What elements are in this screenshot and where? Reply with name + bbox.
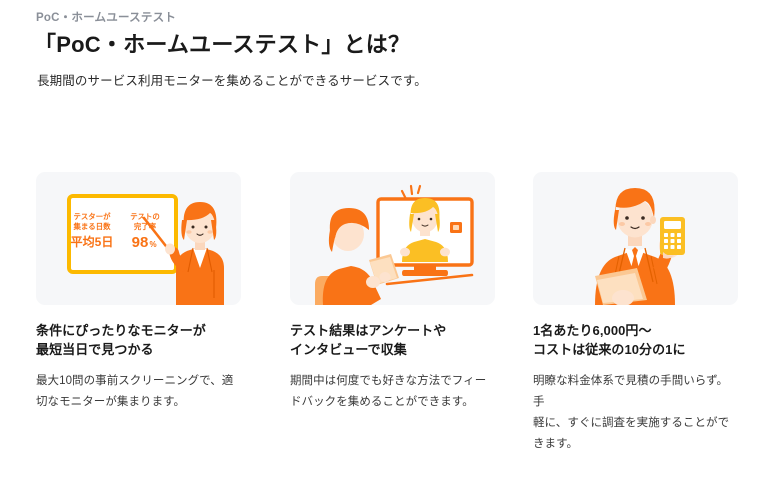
svg-text:テスターが: テスターが (74, 212, 112, 221)
card-heading: 条件にぴったりなモニターが 最短当日で見つかる (36, 322, 241, 360)
feature-card-list: テスターが 集まる日数 平均5日 テストの 完了率 98 % (0, 0, 780, 483)
card-body-text: 期間中は何度でも好きな方法でフィー ドバックを集めることができます。 (290, 371, 495, 414)
svg-text:集まる日数: 集まる日数 (73, 222, 112, 231)
page-root: PoC・ホームユーステスト 「PoC・ホームユーステスト」とは？ 長期間のサービ… (0, 0, 780, 483)
svg-text:98: 98 (132, 234, 149, 251)
card-heading: 1名あたり6,000円〜 コストは従来の10分の1に (533, 322, 738, 360)
svg-text:平均5日: 平均5日 (71, 234, 114, 249)
feature-card: 1名あたり6,000円〜 コストは従来の10分の1に 明瞭な料金体系で見積の手間… (533, 172, 738, 456)
svg-text:%: % (149, 240, 156, 249)
businessman-calculator-illustration (533, 172, 738, 305)
card-heading: テスト結果はアンケートや インタビューで収集 (290, 322, 495, 360)
card-body-text: 最大10問の事前スクリーニングで、適 切なモニターが集まります。 (36, 371, 241, 414)
video-interview-illustration (290, 172, 495, 305)
feature-card: テスト結果はアンケートや インタビューで収集 期間中は何度でも好きな方法でフィー… (290, 172, 495, 413)
card-body-text: 明瞭な料金体系で見積の手間いらず。手 軽に、すぐに調査を実施することがで きます… (533, 371, 738, 456)
presenter-whiteboard-illustration: テスターが 集まる日数 平均5日 テストの 完了率 98 % (36, 172, 241, 305)
feature-card: テスターが 集まる日数 平均5日 テストの 完了率 98 % (36, 172, 241, 413)
